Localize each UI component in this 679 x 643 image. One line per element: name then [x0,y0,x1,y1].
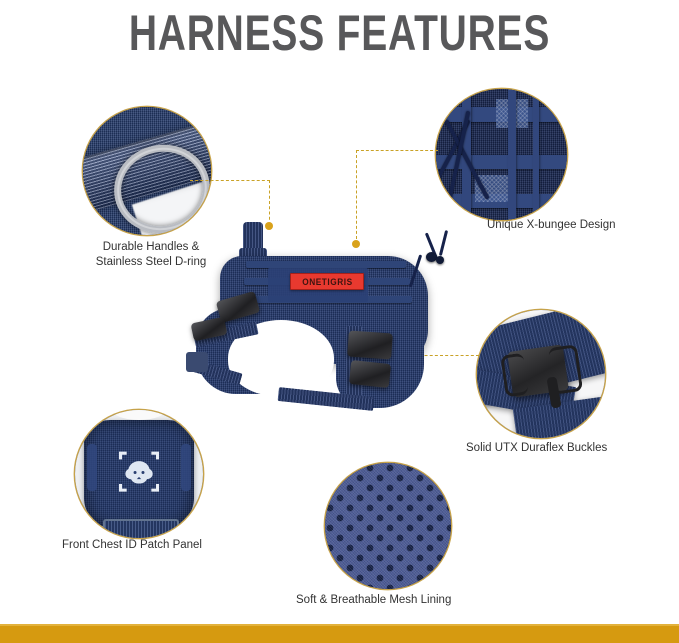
callout-label-x-bungee: Unique X-bungee Design [487,218,616,233]
tiger-head-patch-icon [117,448,161,495]
brand-patch-label: ONETIGRIS [302,277,353,287]
cord-lock-bead [436,256,444,264]
detail-circle-buckles [477,310,605,438]
bottom-accent-bar [0,626,679,643]
buckle-side-lower [349,360,391,388]
callout-label-mesh-lining: Soft & Breathable Mesh Lining [296,593,451,608]
buckle-side-upper [347,330,393,359]
x-bungee-photo [436,89,567,220]
infographic-canvas: HARNESS FEATURES Durable Handles & Stain… [0,0,679,643]
chest-panel-photo [75,410,203,538]
callout-label-buckles: Solid UTX Duraflex Buckles [466,441,607,456]
strap-adjuster [186,352,208,372]
connector-line-bungee-h [356,150,438,151]
mesh-lining-photo [325,463,451,589]
vertical-strap [533,89,540,220]
mesh-grain-overlay [325,463,451,589]
panel-side-edge [181,444,191,491]
panel-side-edge [87,444,97,491]
brand-patch: ONETIGRIS [290,273,364,290]
bungee-cord-tail [439,230,448,256]
buckles-photo [477,310,605,438]
panel-top-highlight [111,410,167,420]
molle-row [246,261,406,268]
panel-bottom-strap [103,519,179,538]
detail-circle-x-bungee [436,89,567,220]
detail-circle-mesh-lining [325,463,451,589]
product-photo-harness: ONETIGRIS [186,216,448,424]
vertical-strap [508,89,516,220]
detail-circle-chest-panel [75,410,203,538]
page-title: HARNESS FEATURES [75,4,605,62]
chest-panel-fabric [84,420,194,528]
connector-line-handles-h [190,180,270,181]
callout-label-chest-panel: Front Chest ID Patch Panel [62,538,202,553]
